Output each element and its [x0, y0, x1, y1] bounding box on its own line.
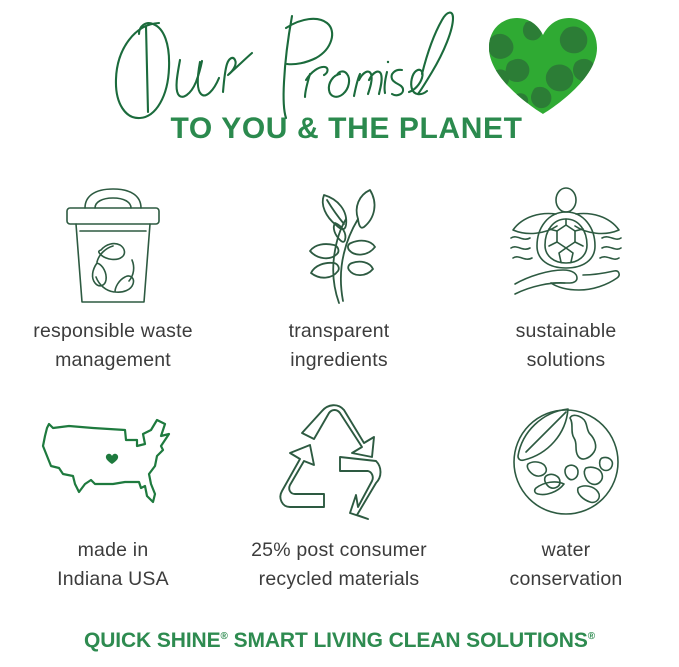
- feature-caption: transparent ingredients: [289, 317, 390, 375]
- caption-line-1: transparent: [289, 317, 390, 346]
- feature-caption: 25% post consumer recycled materials: [251, 536, 427, 594]
- caption-line-1: made in: [57, 536, 169, 565]
- leaf-sprig-icon: [269, 182, 409, 307]
- footer-brand-tagline: QUICK SHINE® SMART LIVING CLEAN SOLUTION…: [0, 628, 679, 654]
- footer-tagline: SMART LIVING CLEAN SOLUTIONS: [228, 629, 588, 652]
- feature-sustainable-solutions: sustainable solutions: [453, 176, 679, 388]
- caption-line-2: conservation: [510, 565, 623, 594]
- promise-infographic: TO YOU & THE PLANET: [0, 0, 679, 667]
- header: TO YOU & THE PLANET: [0, 0, 679, 172]
- caption-line-1: water: [510, 536, 623, 565]
- recycle-arrows-icon: [269, 402, 409, 522]
- usa-map-heart-icon: [43, 402, 183, 522]
- caption-line-2: Indiana USA: [57, 565, 169, 594]
- caption-line-2: solutions: [516, 346, 617, 375]
- caption-line-1: 25% post consumer: [251, 536, 427, 565]
- feature-responsible-waste-management: responsible waste management: [0, 176, 226, 388]
- caption-line-2: recycled materials: [251, 565, 427, 594]
- turtle-in-hand-icon: [496, 182, 636, 307]
- registered-mark-icon: ®: [588, 631, 595, 642]
- feature-caption: made in Indiana USA: [57, 536, 169, 594]
- feature-caption: responsible waste management: [33, 317, 193, 375]
- feature-water-conservation: water conservation: [453, 388, 679, 600]
- footer-brand: QUICK SHINE: [84, 629, 221, 652]
- feature-caption: sustainable solutions: [516, 317, 617, 375]
- globe-leaf-icon: [496, 402, 636, 522]
- heart-earth-icon: [483, 14, 603, 118]
- feature-post-consumer-recycled: 25% post consumer recycled materials: [226, 388, 452, 600]
- caption-line-1: responsible waste: [33, 317, 193, 346]
- script-title-our-promise: [96, 4, 496, 124]
- feature-transparent-ingredients: transparent ingredients: [226, 176, 452, 388]
- header-subtitle: TO YOU & THE PLANET: [0, 112, 679, 146]
- feature-grid: responsible waste management: [0, 176, 679, 600]
- caption-line-2: management: [33, 346, 193, 375]
- caption-line-1: sustainable: [516, 317, 617, 346]
- feature-made-in-indiana-usa: made in Indiana USA: [0, 388, 226, 600]
- recycling-bin-icon: [43, 182, 183, 307]
- feature-caption: water conservation: [510, 536, 623, 594]
- registered-mark-icon: ®: [221, 631, 228, 642]
- caption-line-2: ingredients: [289, 346, 390, 375]
